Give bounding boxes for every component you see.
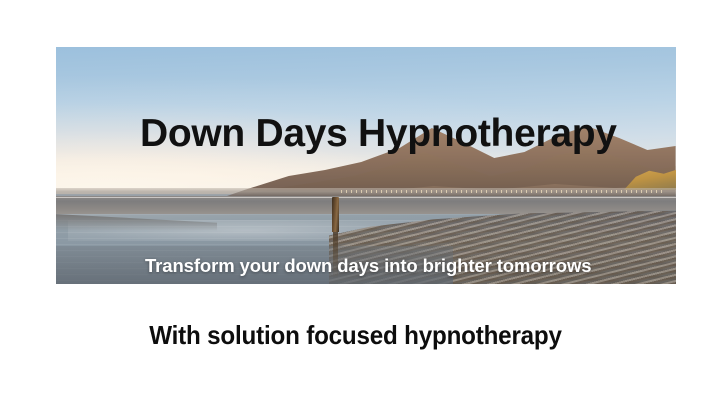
hero-image: Down Days Hypnotherapy Transform your do… bbox=[56, 47, 676, 284]
hero-subtitle: Transform your down days into brighter t… bbox=[145, 255, 591, 277]
wooden-post bbox=[332, 197, 339, 231]
slide-canvas: Down Days Hypnotherapy Transform your do… bbox=[0, 0, 711, 400]
hero-title: Down Days Hypnotherapy bbox=[140, 113, 617, 156]
waterline bbox=[56, 197, 676, 198]
caption-text: With solution focused hypnotherapy bbox=[25, 320, 686, 351]
distant-town-lights bbox=[341, 190, 663, 193]
